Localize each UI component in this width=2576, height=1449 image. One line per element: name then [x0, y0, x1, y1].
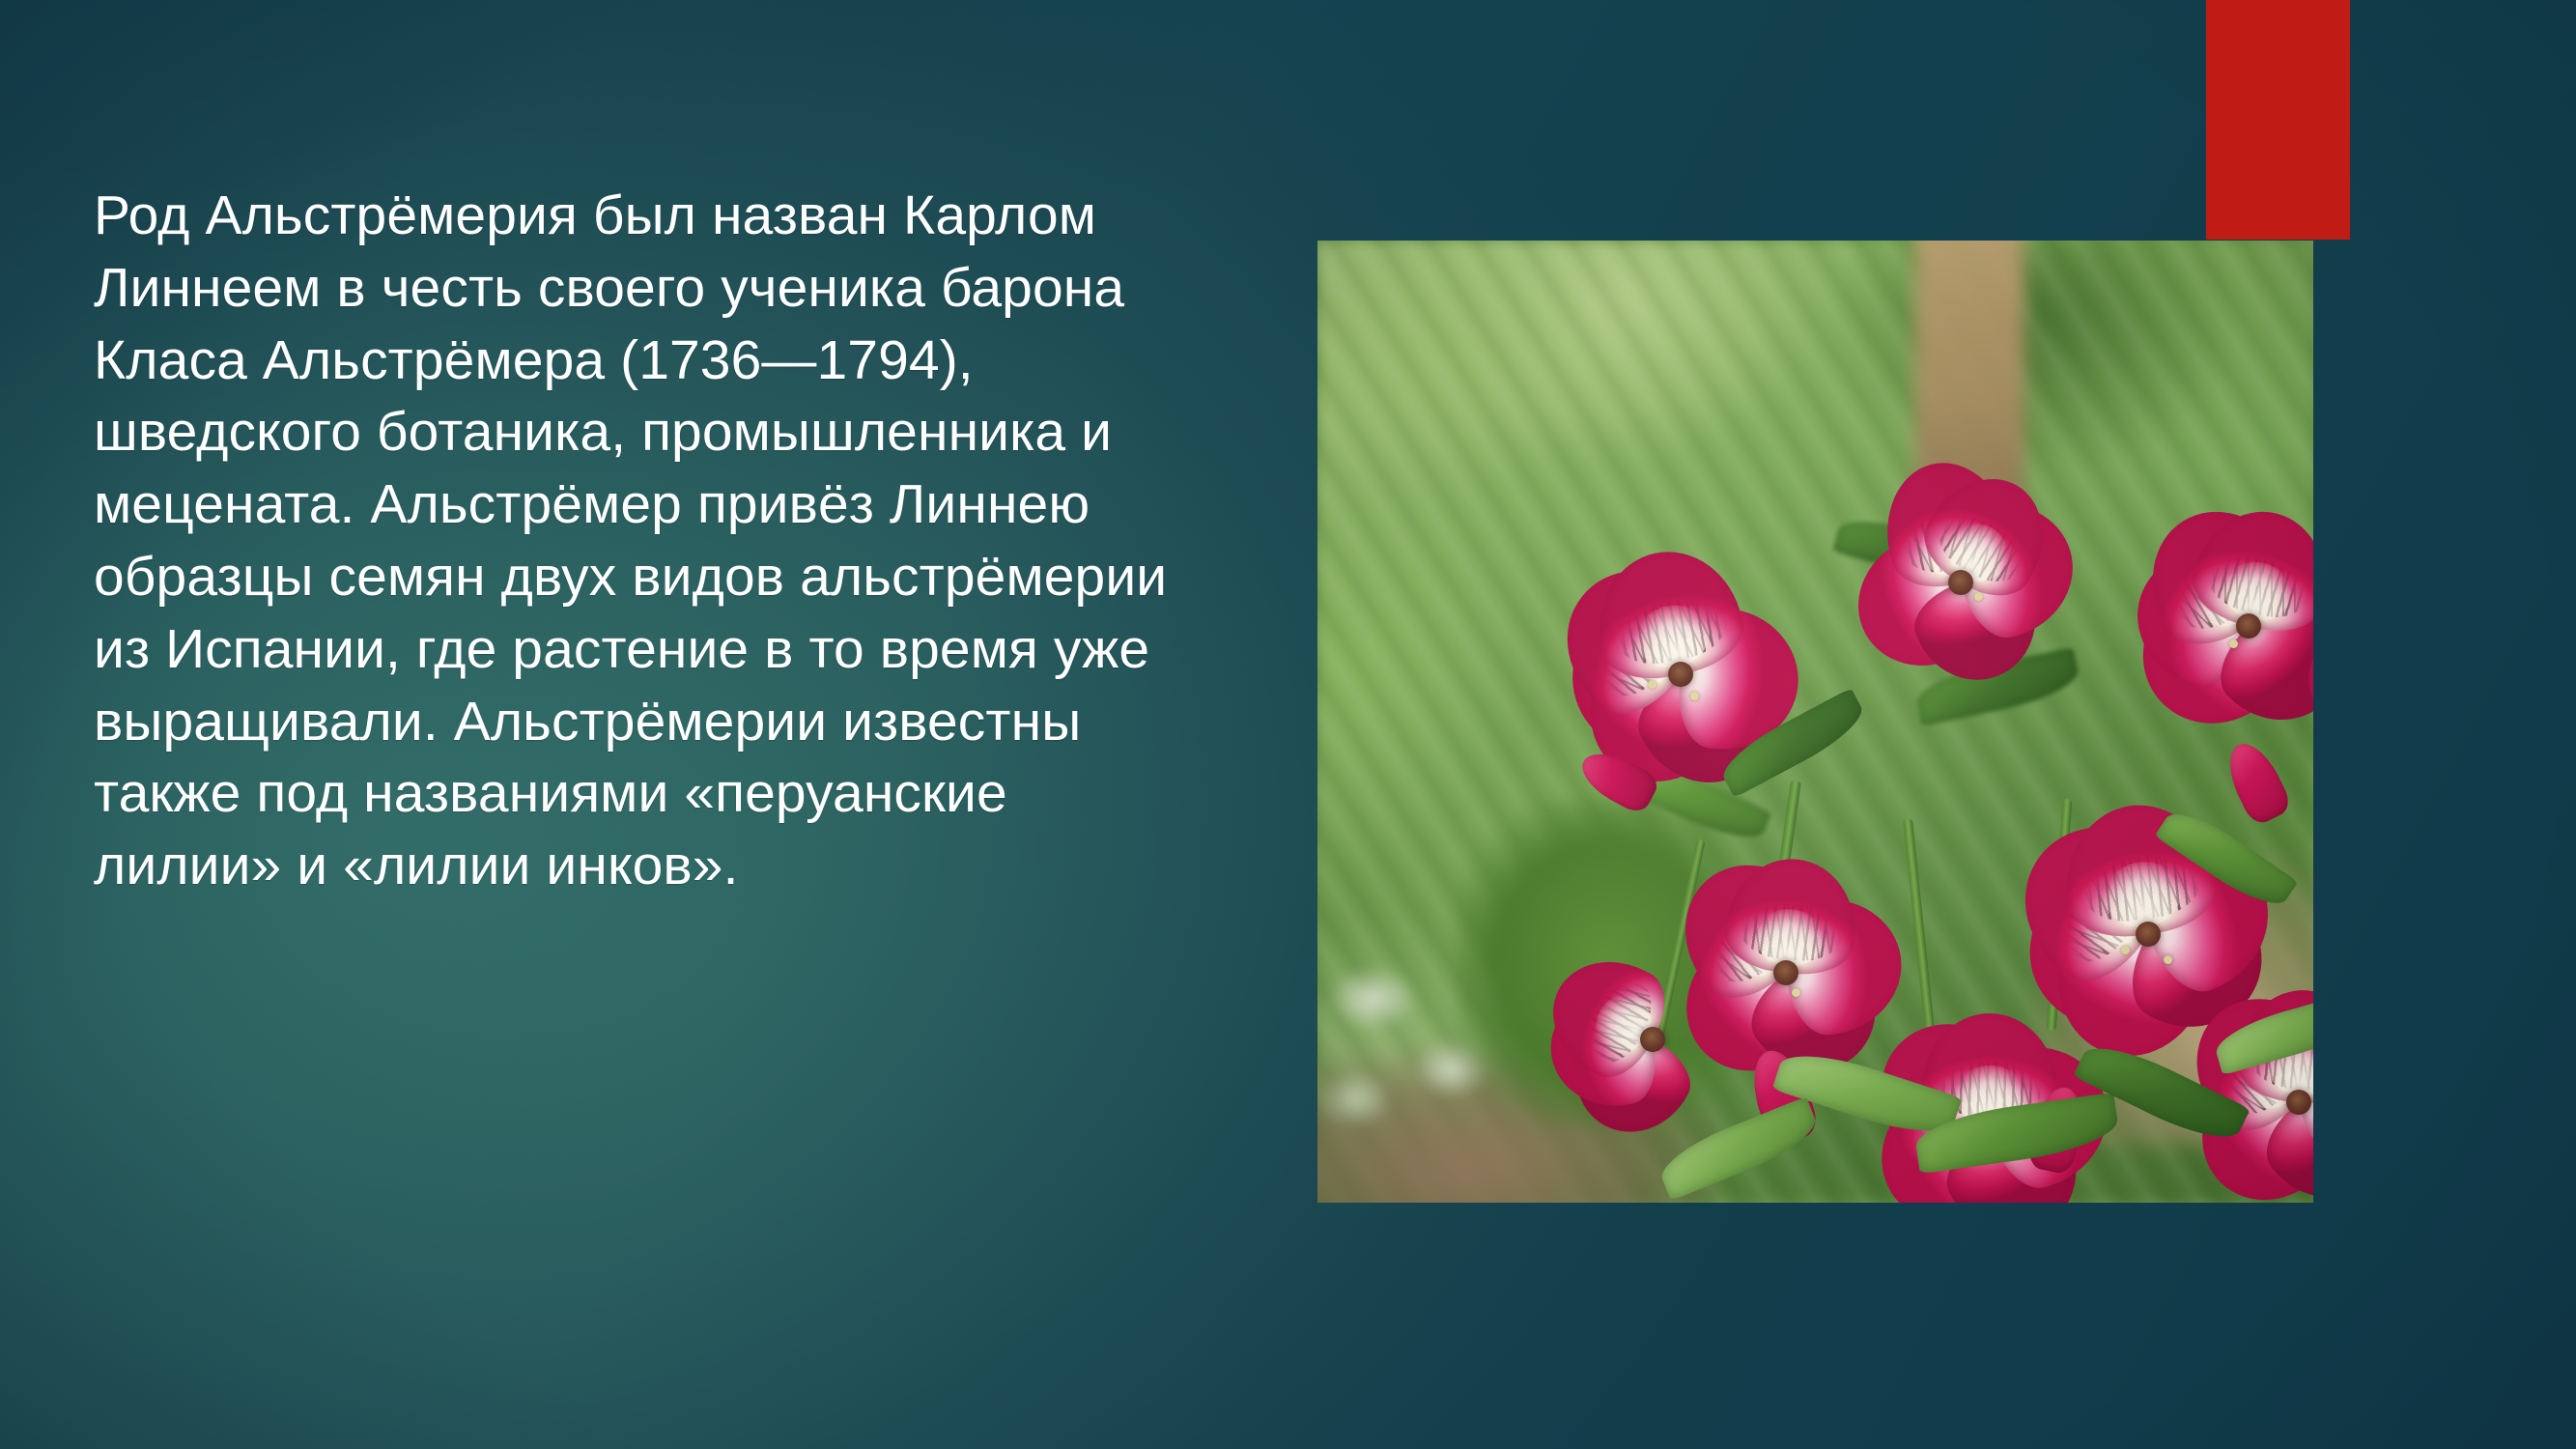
flower-center — [1668, 662, 1693, 687]
flower-anther — [2229, 639, 2238, 648]
flower-anther — [1974, 592, 1983, 601]
flower-petal-streaked — [2304, 612, 2313, 743]
presentation-slide: Род Альстрёмерия был назван Карлом Линне… — [0, 0, 2576, 1449]
flower-anther — [1792, 988, 1800, 997]
flower-anther — [2164, 955, 2172, 964]
flower-anther — [1690, 692, 1699, 700]
alstroemeria-photograph — [1317, 241, 2313, 1203]
red-accent-bar — [2206, 0, 2350, 240]
slide-body-text: Род Альстрёмерия был назван Карлом Линне… — [94, 180, 1175, 902]
alstroemeria-bloom — [1816, 452, 2106, 713]
flower-center — [2286, 1090, 2311, 1115]
alstroemeria-bloom — [2094, 491, 2313, 761]
flower-center — [2236, 613, 2261, 639]
photo-scene — [1317, 241, 2313, 1203]
alstroemeria-bloom — [2293, 568, 2313, 800]
alstroemeria-bloom — [1537, 933, 1769, 1146]
flower-center — [1948, 570, 1973, 595]
alstroemeria-bloom — [1516, 529, 1845, 819]
flower-center — [1773, 960, 1798, 985]
flower-center — [1640, 1027, 1665, 1052]
flower-anther — [1648, 680, 1656, 689]
flower-anther — [2121, 946, 2130, 954]
